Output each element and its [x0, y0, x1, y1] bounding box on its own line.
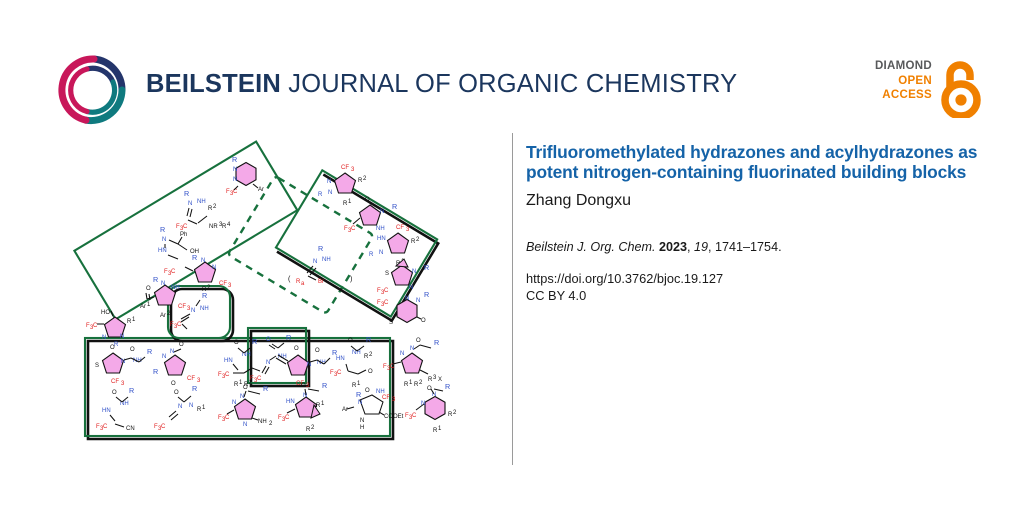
svg-text:N: N — [410, 346, 414, 352]
bottom-row-2-structures: O R NH HN F3C CN O R N N R1 — [96, 381, 457, 434]
svg-text:N: N — [120, 334, 124, 340]
svg-text:O: O — [365, 197, 370, 203]
diamond-open-access-badge: DIAMOND OPEN ACCESS — [862, 58, 990, 120]
svg-text:N: N — [307, 362, 311, 368]
svg-text:Ar: Ar — [160, 313, 166, 319]
left-diagonal-box — [74, 142, 297, 320]
svg-text:O: O — [416, 338, 421, 344]
page-title: Trifluoromethylated hydrazones and acylh… — [526, 142, 996, 183]
svg-text:CF: CF — [341, 165, 349, 171]
svg-text:2: 2 — [453, 410, 457, 416]
svg-text:N: N — [328, 190, 332, 196]
svg-text:HN: HN — [102, 408, 111, 414]
svg-text:N: N — [327, 179, 331, 185]
svg-text:2: 2 — [363, 176, 367, 182]
citation-journal: Beilstein J. Org. Chem. — [526, 240, 655, 254]
svg-text:R: R — [424, 263, 429, 272]
svg-text:2: 2 — [416, 237, 420, 243]
svg-text:O: O — [365, 388, 370, 394]
svg-text:HN: HN — [336, 356, 345, 362]
column-divider — [512, 133, 513, 465]
svg-text:NH: NH — [197, 199, 206, 205]
svg-text:R: R — [114, 342, 119, 348]
svg-text:C: C — [390, 364, 395, 370]
svg-text:R: R — [252, 337, 257, 346]
svg-text:3: 3 — [197, 378, 201, 384]
svg-text:Ph: Ph — [180, 232, 187, 238]
svg-text:3: 3 — [433, 375, 437, 381]
svg-text:N: N — [379, 250, 383, 256]
svg-text:R: R — [366, 335, 371, 344]
svg-text:C: C — [171, 269, 176, 275]
svg-text:1: 1 — [321, 401, 325, 407]
svg-text:1: 1 — [348, 199, 352, 205]
svg-text:Ar: Ar — [140, 304, 146, 310]
svg-text:N: N — [243, 422, 247, 428]
svg-text:S: S — [389, 320, 393, 326]
svg-text:O: O — [174, 390, 179, 396]
svg-text:O: O — [301, 383, 306, 389]
svg-text:1: 1 — [357, 381, 361, 387]
svg-text:O: O — [179, 342, 184, 348]
svg-text:R: R — [192, 384, 197, 393]
citation-year: 2023 — [659, 240, 687, 254]
svg-text:NH: NH — [258, 419, 267, 425]
svg-text:N: N — [303, 393, 307, 399]
svg-text:3: 3 — [228, 283, 232, 289]
svg-text:N: N — [313, 259, 317, 265]
svg-text:HN: HN — [224, 358, 233, 364]
svg-text:CF: CF — [187, 376, 195, 382]
svg-text:4: 4 — [227, 222, 231, 228]
license-label: CC BY 4.0 — [526, 287, 996, 305]
svg-text:Ar: Ar — [258, 187, 264, 193]
svg-text:C: C — [351, 226, 356, 232]
svg-text:C: C — [233, 189, 238, 195]
svg-text:C: C — [161, 424, 166, 430]
svg-text:NH: NH — [171, 285, 180, 291]
svg-text:C: C — [257, 376, 262, 382]
svg-text:R: R — [263, 384, 268, 393]
svg-text:N: N — [266, 360, 270, 366]
svg-text:R: R — [318, 192, 323, 198]
svg-text:N: N — [191, 308, 195, 314]
svg-text:2: 2 — [311, 425, 315, 431]
oa-line-access: ACCESS — [875, 88, 932, 103]
svg-text:R: R — [129, 386, 134, 395]
svg-text:COOEt: COOEt — [384, 414, 404, 420]
svg-text:(: ( — [288, 274, 291, 283]
svg-text:HN: HN — [377, 236, 386, 242]
citation-line: Beilstein J. Org. Chem. 2023, 19, 1741–1… — [526, 240, 996, 254]
svg-text:3: 3 — [121, 381, 125, 387]
svg-text:N: N — [162, 354, 166, 360]
svg-text:N: N — [233, 167, 237, 173]
svg-text:O: O — [266, 337, 271, 343]
svg-text:a: a — [301, 281, 305, 287]
svg-text:C: C — [285, 415, 290, 421]
svg-text:C: C — [337, 370, 342, 376]
svg-text:Ar: Ar — [342, 407, 348, 413]
svg-text:S: S — [385, 271, 389, 277]
svg-text:Br: Br — [318, 279, 324, 285]
svg-text:): ) — [350, 274, 352, 283]
svg-text:N: N — [178, 404, 182, 410]
svg-text:N: N — [188, 201, 192, 207]
svg-text:O: O — [294, 346, 299, 352]
journal-title: BEILSTEIN JOURNAL OF ORGANIC CHEMISTRY — [146, 70, 737, 99]
svg-text:N: N — [161, 281, 165, 287]
svg-text:O: O — [112, 390, 117, 396]
journal-title-rest: JOURNAL OF ORGANIC CHEMISTRY — [281, 70, 737, 98]
svg-text:R: R — [153, 367, 158, 376]
svg-text:C: C — [225, 372, 230, 378]
svg-text:2: 2 — [269, 421, 273, 427]
svg-text:S: S — [95, 363, 99, 369]
svg-text:N: N — [201, 258, 205, 264]
svg-text:N: N — [360, 418, 364, 424]
svg-text:1: 1 — [147, 302, 151, 308]
svg-text:C: C — [412, 413, 417, 419]
svg-text:HN: HN — [286, 399, 295, 405]
svg-text:R: R — [356, 390, 361, 399]
svg-text:N: N — [400, 351, 404, 357]
svg-text:CN: CN — [126, 426, 135, 432]
svg-text:1: 1 — [132, 317, 136, 323]
svg-text:1: 1 — [438, 426, 442, 432]
center-rounded-box: R N NH F3 C — [168, 286, 233, 341]
svg-text:HO: HO — [101, 310, 110, 316]
svg-text:O: O — [421, 318, 426, 324]
svg-text:O: O — [146, 286, 151, 292]
svg-text:N: N — [409, 285, 413, 291]
article-cover-page: BEILSTEIN JOURNAL OF ORGANIC CHEMISTRY D… — [0, 0, 1024, 512]
svg-text:C: C — [384, 300, 389, 306]
svg-text:R: R — [369, 252, 374, 258]
graphical-abstract: .bx{fill:none;stroke:#17713d;stroke-widt… — [50, 136, 500, 476]
svg-text:R: R — [160, 225, 165, 234]
svg-text:N: N — [233, 177, 237, 183]
svg-text:R: R — [184, 189, 189, 198]
svg-text:C: C — [177, 322, 182, 328]
journal-title-bold: BEILSTEIN — [146, 70, 281, 98]
svg-text:O: O — [315, 348, 320, 354]
svg-text:NH: NH — [376, 226, 385, 232]
svg-text:R: R — [392, 202, 397, 211]
svg-text:CF: CF — [396, 225, 404, 231]
svg-text:NH: NH — [200, 306, 209, 312]
svg-text:R: R — [232, 155, 237, 164]
svg-text:CF: CF — [382, 395, 390, 401]
svg-text:1: 1 — [409, 380, 413, 386]
svg-text:NH: NH — [322, 257, 331, 263]
author-name: Zhang Dongxu — [526, 192, 996, 210]
svg-text:R: R — [147, 347, 152, 356]
svg-text:R: R — [286, 333, 291, 342]
beilstein-swirl-logo-icon — [56, 52, 132, 128]
svg-text:O: O — [110, 345, 115, 351]
svg-text:NR: NR — [209, 224, 218, 230]
svg-text:O: O — [243, 385, 248, 391]
svg-text:O: O — [348, 338, 353, 344]
svg-text:HN: HN — [158, 248, 167, 254]
svg-text:N: N — [432, 392, 436, 398]
journal-masthead: BEILSTEIN JOURNAL OF ORGANIC CHEMISTRY D… — [0, 0, 1024, 130]
svg-text:O: O — [368, 369, 373, 375]
right-diagonal-box — [274, 170, 439, 320]
svg-text:CF: CF — [178, 304, 186, 310]
svg-text:X: X — [438, 377, 442, 383]
svg-text:N: N — [240, 394, 244, 400]
svg-text:O: O — [130, 347, 135, 353]
citation-pages: 1741–1754. — [715, 240, 782, 254]
open-access-label: DIAMOND OPEN ACCESS — [875, 59, 932, 103]
svg-text:R: R — [322, 381, 327, 390]
svg-text:R: R — [445, 382, 450, 391]
citation-volume: 19 — [694, 240, 708, 254]
svg-text:3: 3 — [351, 167, 355, 173]
svg-text:N: N — [416, 298, 420, 304]
svg-text:N: N — [405, 296, 409, 302]
article-metadata: Trifluoromethylated hydrazones and acylh… — [526, 142, 996, 305]
svg-text:N: N — [232, 400, 236, 406]
oa-line-open: OPEN — [875, 74, 932, 89]
svg-text:3: 3 — [406, 227, 410, 233]
svg-text:1: 1 — [202, 405, 206, 411]
svg-text:O: O — [234, 340, 239, 346]
svg-text:R: R — [153, 275, 158, 284]
svg-text:N: N — [189, 403, 193, 409]
svg-text:R: R — [434, 338, 439, 347]
doi-link[interactable]: https://doi.org/10.3762/bjoc.19.127 — [526, 270, 996, 288]
svg-text:N: N — [162, 237, 166, 243]
svg-text:2: 2 — [369, 352, 373, 358]
svg-text:C: C — [183, 224, 188, 230]
svg-text:O: O — [171, 381, 176, 387]
svg-text:N: N — [358, 400, 362, 406]
svg-text:N: N — [212, 265, 216, 271]
svg-text:2: 2 — [213, 204, 217, 210]
svg-text:N: N — [412, 269, 416, 275]
oa-line-diamond: DIAMOND — [875, 59, 932, 74]
svg-text:CF: CF — [219, 281, 227, 287]
svg-text:C: C — [384, 288, 389, 294]
svg-text:H: H — [360, 425, 364, 431]
svg-text:R: R — [424, 290, 429, 299]
left-box-structures: R N N F3C Ar R N NH F3C R2 — [86, 155, 264, 348]
svg-text:3: 3 — [392, 397, 396, 403]
svg-text:C: C — [103, 424, 108, 430]
svg-text:2: 2 — [419, 380, 423, 386]
svg-text:N: N — [380, 209, 384, 215]
svg-text:R: R — [192, 253, 197, 262]
svg-text:R: R — [318, 244, 323, 253]
svg-text:N: N — [102, 335, 106, 341]
svg-text:N: N — [170, 349, 174, 355]
open-lock-icon — [938, 60, 984, 118]
svg-text:C: C — [225, 415, 230, 421]
svg-text:CF: CF — [111, 379, 119, 385]
